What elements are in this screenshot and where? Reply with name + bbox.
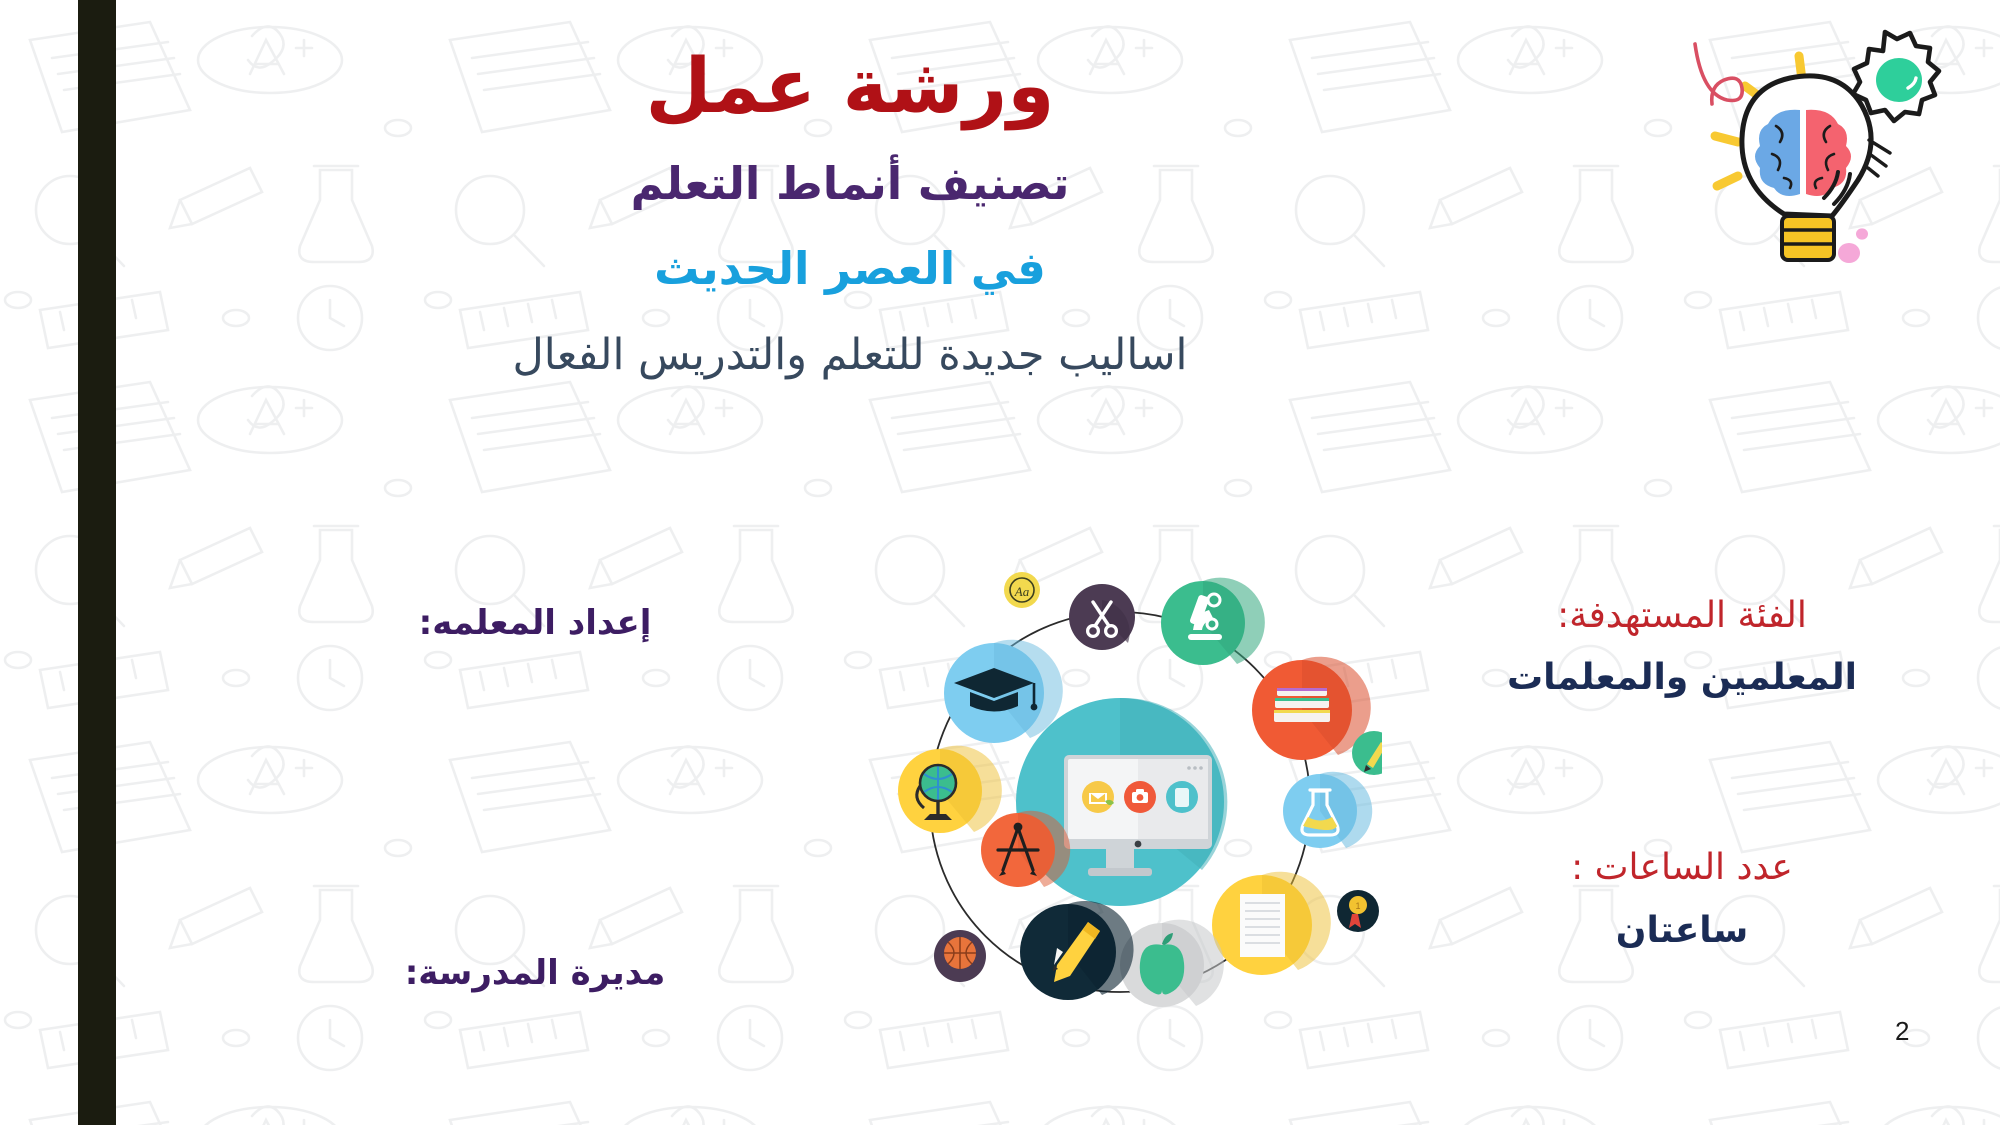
subtitle-tertiary: اساليب جديدة للتعلم والتدريس الفعال xyxy=(0,298,1700,384)
prepared-by-group: إعداد المعلمه: xyxy=(355,600,715,648)
principal-group: مديرة المدرسة: xyxy=(355,950,715,998)
node-books-icon xyxy=(1252,657,1371,760)
headline-block: ورشة عمل تصنيف أنماط التعلم في العصر الح… xyxy=(0,0,1700,384)
audience-label: الفئة المستهدفة: xyxy=(1412,590,1952,642)
subtitle-secondary: في العصر الحديث xyxy=(0,214,1700,299)
dot-small xyxy=(1856,228,1868,239)
node-medal-icon: 1 xyxy=(1337,890,1379,932)
node-graduation-cap-icon xyxy=(944,640,1063,743)
hours-group: عدد الساعات : ساعتان xyxy=(1412,704,1952,956)
audience-group: الفئة المستهدفة: المعلمين والمعلمات xyxy=(1412,590,1952,704)
presentation-slide: ورشة عمل تصنيف أنماط التعلم في العصر الح… xyxy=(0,0,2000,1125)
node-typography-icon: Aa xyxy=(1004,572,1040,608)
audience-value: المعلمين والمعلمات xyxy=(1412,642,1952,704)
page-number: 2 xyxy=(1895,1016,1909,1047)
svg-text:1: 1 xyxy=(1355,901,1360,911)
hours-value: ساعتان xyxy=(1412,895,1952,957)
page-title: ورشة عمل xyxy=(0,0,1700,129)
prepared-by-label: إعداد المعلمه: xyxy=(355,600,715,648)
node-microscope-icon xyxy=(1161,578,1265,665)
node-scissors-icon xyxy=(1069,584,1135,650)
screen-app-icons xyxy=(1082,781,1198,813)
node-basketball-icon xyxy=(934,930,986,982)
node-compass-icon xyxy=(981,811,1070,887)
principal-label: مديرة المدرسة: xyxy=(355,950,715,998)
lightbulb-brain-icon xyxy=(1672,8,1968,298)
gear-icon xyxy=(1853,32,1939,121)
monitor-dots xyxy=(1187,766,1203,770)
node-globe-icon xyxy=(898,746,1002,833)
dot-large xyxy=(1838,243,1860,263)
node-flask-icon xyxy=(1283,772,1372,848)
swirl-decoration xyxy=(1695,44,1742,104)
workshop-details-right: الفئة المستهدفة: المعلمين والمعلمات عدد … xyxy=(1412,590,1952,957)
node-apple-icon xyxy=(1120,920,1224,1007)
education-circle-infographic: Aa xyxy=(862,550,1382,1050)
subtitle-primary: تصنيف أنماط التعلم xyxy=(0,129,1700,214)
bulb-base xyxy=(1782,216,1834,260)
hours-label: عدد الساعات : xyxy=(1412,842,1952,894)
svg-text:Aa: Aa xyxy=(1014,584,1030,599)
node-notepad-icon xyxy=(1212,872,1331,975)
node-pencil-icon xyxy=(1020,901,1134,1000)
